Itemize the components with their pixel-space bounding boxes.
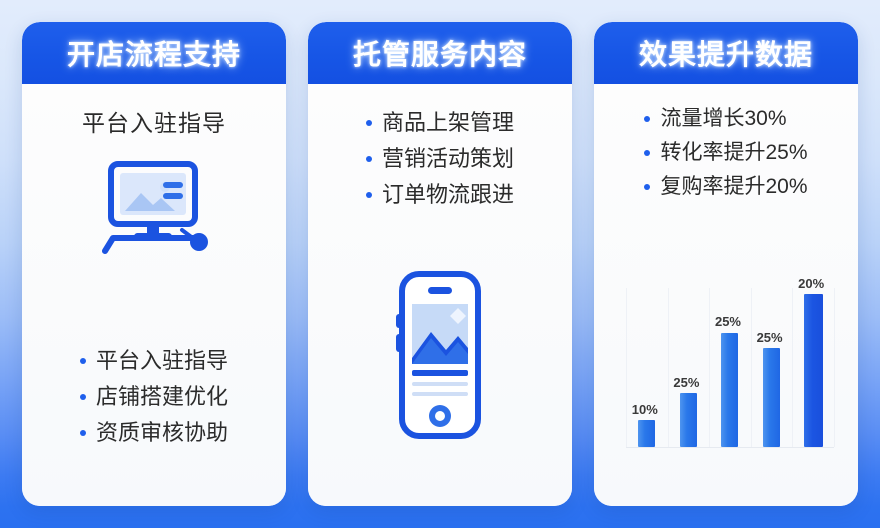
bar-column: 25% (711, 288, 748, 447)
x-tick-label (794, 452, 831, 468)
bar-value-label: 10% (632, 402, 658, 417)
card-3-header: 效果提升数据 (594, 22, 858, 84)
bar-value-label: 20% (798, 276, 824, 291)
infographic-canvas: 开店流程支持 平台入驻指导 (0, 0, 880, 528)
bullet-text: 流量增长30% (660, 108, 786, 129)
bullet-text: 商品上架管理 (382, 112, 514, 134)
bar (721, 333, 738, 447)
bar-column: 25% (670, 288, 707, 447)
card-1-subtitle: 平台入驻指导 (82, 104, 226, 138)
card-2-body: 商品上架管理 营销活动策划 订单物流跟进 (308, 84, 572, 506)
bar-column: 20% (794, 288, 831, 447)
list-item: 转化率提升25% (644, 142, 807, 163)
chart-plot-area: 10% 25% 25% (626, 288, 834, 448)
bar-value-label: 25% (715, 314, 741, 329)
bar (763, 348, 780, 447)
bullet-dot-icon (80, 394, 86, 400)
list-item: 营销活动策划 (366, 148, 514, 170)
list-item: 店铺搭建优化 (80, 386, 228, 408)
bar (638, 420, 655, 447)
card-3-title: 效果提升数据 (639, 33, 813, 73)
bar-value-label: 25% (757, 330, 783, 345)
bar-column: 25% (753, 288, 790, 447)
bullet-dot-icon (366, 192, 372, 198)
bullet-dot-icon (644, 150, 650, 156)
bullet-dot-icon (644, 184, 650, 190)
gridline (834, 288, 835, 447)
card-managed-service-content[interactable]: 托管服务内容 商品上架管理 营销活动策划 订单物流跟进 (308, 22, 572, 506)
list-item: 订单物流跟进 (366, 184, 514, 206)
x-tick-label (753, 452, 790, 468)
list-item: 商品上架管理 (366, 112, 514, 134)
desktop-monitor-icon (89, 160, 219, 256)
bullet-text: 资质审核协助 (96, 422, 228, 444)
card-2-bullet-list: 商品上架管理 营销活动策划 订单物流跟进 (366, 112, 514, 220)
card-1-title: 开店流程支持 (67, 33, 241, 73)
bullet-dot-icon (80, 358, 86, 364)
x-tick-label (711, 452, 748, 468)
card-1-body: 平台入驻指导 (22, 84, 286, 506)
bar (680, 393, 697, 447)
card-effect-improvement-data[interactable]: 效果提升数据 流量增长30% 转化率提升25% 复购率提升20% (594, 22, 858, 506)
chart-bars: 10% 25% 25% (626, 288, 834, 447)
bullet-text: 店铺搭建优化 (96, 386, 228, 408)
card-2-header: 托管服务内容 (308, 22, 572, 84)
list-item: 复购率提升20% (644, 176, 807, 197)
bullet-text: 订单物流跟进 (382, 184, 514, 206)
chart-x-axis-labels (626, 452, 834, 468)
bar (804, 294, 823, 447)
bar-chart-icon: 10% 25% 25% (612, 262, 840, 472)
bullet-text: 复购率提升20% (660, 176, 807, 197)
bar-column: 10% (628, 288, 665, 447)
bullet-text: 转化率提升25% (660, 142, 807, 163)
card-3-bullet-list: 流量增长30% 转化率提升25% 复购率提升20% (644, 108, 807, 210)
x-tick-label (628, 452, 665, 468)
card-1-header: 开店流程支持 (22, 22, 286, 84)
list-item: 平台入驻指导 (80, 350, 228, 372)
bullet-dot-icon (366, 120, 372, 126)
bullet-dot-icon (80, 430, 86, 436)
cards-row: 开店流程支持 平台入驻指导 (0, 0, 880, 528)
list-item: 资质审核协助 (80, 422, 228, 444)
list-item: 流量增长30% (644, 108, 807, 129)
bullet-text: 营销活动策划 (382, 148, 514, 170)
x-tick-label (670, 452, 707, 468)
smartphone-icon (388, 270, 492, 442)
card-3-body: 流量增长30% 转化率提升25% 复购率提升20% (594, 84, 858, 506)
card-2-title: 托管服务内容 (353, 33, 527, 73)
bullet-dot-icon (644, 116, 650, 122)
bar-value-label: 25% (673, 375, 699, 390)
bullet-text: 平台入驻指导 (96, 350, 228, 372)
card-1-bullet-list: 平台入驻指导 店铺搭建优化 资质审核协助 (80, 350, 228, 458)
card-store-opening-process[interactable]: 开店流程支持 平台入驻指导 (22, 22, 286, 506)
bullet-dot-icon (366, 156, 372, 162)
